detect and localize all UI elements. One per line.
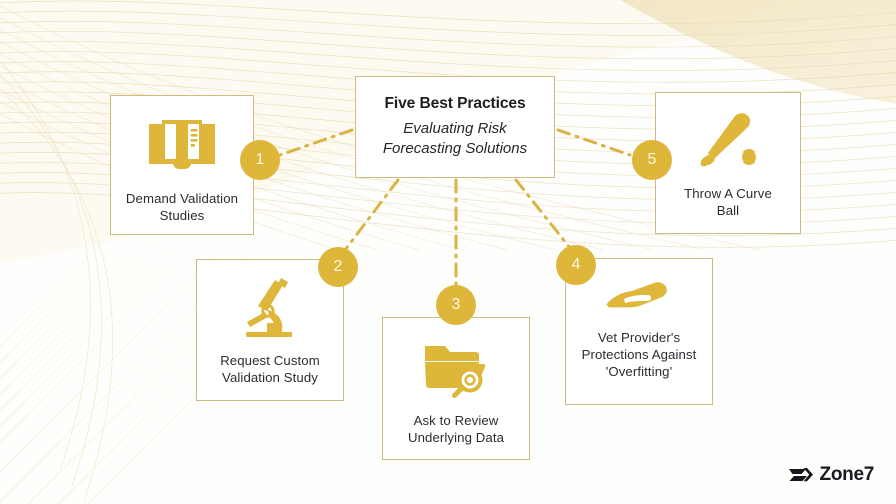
connector-5 [558, 130, 630, 155]
folder-search-icon [383, 338, 529, 398]
baseball-bat-icon [656, 111, 800, 171]
step-badge-4: 4 [556, 245, 596, 285]
connector-1 [280, 130, 352, 155]
practice-card-2[interactable]: Request Custom Validation Study [196, 259, 344, 401]
open-hand-icon [566, 275, 712, 317]
zone7-logo-text: Zone7 [820, 464, 874, 486]
practice-card-3[interactable]: Ask to Review Underlying Data [382, 317, 530, 460]
center-title-box: Five Best Practices Evaluating Risk Fore… [355, 76, 555, 178]
page-title: Five Best Practices [384, 95, 525, 113]
step-badge-1: 1 [240, 140, 280, 180]
practice-card-1[interactable]: Demand Validation Studies [110, 95, 254, 235]
step-badge-5: 5 [632, 140, 672, 180]
practice-card-4-label: Vet Provider's Protections Against 'Over… [576, 329, 703, 380]
step-badge-3: 3 [436, 285, 476, 325]
step-badge-2: 2 [318, 247, 358, 287]
practice-card-5[interactable]: Throw A Curve Ball [655, 92, 801, 234]
connector-4 [516, 180, 570, 248]
zone7-arrow-icon [788, 466, 814, 484]
zone7-logo: Zone7 [788, 464, 874, 486]
practice-card-5-label: Throw A Curve Ball [678, 185, 778, 219]
page-subtitle: Evaluating Risk Forecasting Solutions [383, 119, 527, 159]
slide-canvas: Five Best Practices Evaluating Risk Fore… [0, 0, 896, 504]
practice-card-2-label: Request Custom Validation Study [214, 352, 326, 386]
practice-card-3-label: Ask to Review Underlying Data [402, 412, 510, 446]
microscope-icon [197, 276, 343, 340]
connector-2 [345, 180, 398, 250]
practice-card-1-label: Demand Validation Studies [120, 190, 244, 224]
open-book-icon [111, 114, 253, 176]
